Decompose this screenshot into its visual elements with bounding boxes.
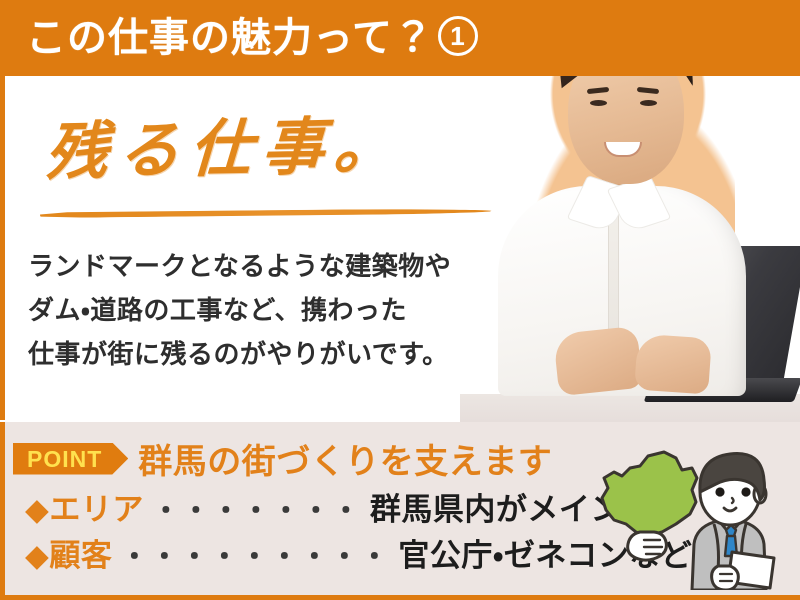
eye-left bbox=[715, 487, 724, 496]
body-line: ランドマークとなるような建築物や bbox=[28, 244, 508, 288]
dot-leader: ・・・・・・・・・ bbox=[120, 535, 390, 575]
suit-body bbox=[692, 516, 766, 590]
body-line: 仕事が街に残るのがやりがいです。 bbox=[28, 332, 508, 376]
detail-value: 群馬県内がメイン bbox=[370, 484, 622, 529]
detail-label-text: 顧客 bbox=[49, 538, 112, 573]
detail-row: ◆エリア ・・・・・・・ 群馬県内がメイン bbox=[25, 484, 645, 530]
body-line: ダム・道路の工事など、携わった bbox=[28, 288, 508, 332]
suit-lapel-left bbox=[714, 524, 719, 570]
dot-leader: ・・・・・・・ bbox=[152, 489, 362, 529]
body-text: ランドマークとなるような建築物や ダム・道路の工事など、携わった 仕事が街に残る… bbox=[28, 244, 508, 376]
detail-label: ◆エリア bbox=[25, 484, 144, 529]
face bbox=[700, 459, 760, 525]
left-accent-rule bbox=[0, 76, 5, 420]
eye-right bbox=[741, 487, 750, 496]
tie-icon bbox=[725, 525, 737, 556]
point-section: POINT 群馬の街づくりを支えます ◆エリア ・・・・・・・ 群馬県内がメイン… bbox=[0, 422, 800, 600]
detail-label-text: エリア bbox=[49, 492, 144, 527]
header-bar: この仕事の魅力って？1 bbox=[0, 0, 800, 76]
diamond-icon: ◆ bbox=[25, 492, 49, 527]
detail-list: ◆エリア ・・・・・・・ 群馬県内がメイン ◆顧客 ・・・・・・・・・ 官公庁・… bbox=[25, 484, 645, 576]
point-heading-row: POINT 群馬の街づくりを支えます bbox=[13, 434, 552, 483]
smiling-mouth bbox=[724, 508, 736, 511]
page-title: この仕事の魅力って？1 bbox=[26, 6, 478, 70]
hair bbox=[700, 454, 765, 500]
detail-row: ◆顧客 ・・・・・・・・・ 官公庁・ゼネコンなど bbox=[25, 530, 645, 576]
suit-lapel-right bbox=[742, 524, 747, 570]
presenting-hand bbox=[712, 566, 739, 590]
circled-number-icon: 1 bbox=[438, 16, 478, 56]
point-badge: POINT bbox=[13, 443, 128, 475]
recruit-panel: この仕事の魅力って？1 残る仕事。 ランドマークとなるような建築物や ダム・道路… bbox=[0, 0, 800, 600]
diamond-icon: ◆ bbox=[25, 538, 49, 573]
point-heading: 群馬の街づくりを支えます bbox=[138, 434, 552, 483]
header-title-text: この仕事の魅力って？ bbox=[26, 16, 434, 60]
headline: 残る仕事。 bbox=[44, 94, 409, 192]
document-icon bbox=[728, 552, 774, 588]
ear bbox=[754, 485, 766, 503]
brush-underline bbox=[40, 208, 492, 218]
detail-value: 官公庁・ゼネコンなど bbox=[398, 530, 692, 575]
detail-label: ◆顧客 bbox=[25, 530, 112, 575]
main-content: 残る仕事。 ランドマークとなるような建築物や ダム・道路の工事など、携わった 仕… bbox=[0, 76, 800, 422]
nose bbox=[732, 498, 734, 503]
